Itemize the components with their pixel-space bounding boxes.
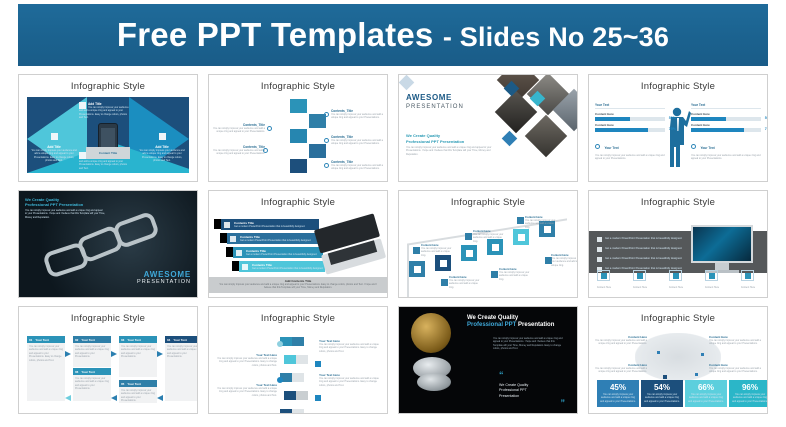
slide-11-body-text: You can simply impress your audience and…	[493, 337, 563, 351]
arrow-3-text: Get a modern PowerPoint Presentation tha…	[246, 253, 317, 256]
step-5-text: You can simply impress your audience and…	[525, 219, 557, 229]
stack-square-2[interactable]	[309, 114, 326, 128]
map-callout-3-text: You can simply impress your audience and…	[709, 339, 761, 346]
slide-4-body: Your Text Content Here 50% Content Here …	[589, 97, 767, 177]
process-col-6-number: 06	[75, 370, 78, 374]
percent-tile-4[interactable]: 96% You can simply impress your audience…	[729, 380, 768, 407]
arrow-left-3	[65, 395, 71, 401]
arrow-left-1	[157, 395, 163, 401]
step-1-text: You can simply impress your audience and…	[421, 247, 453, 257]
arrow-banner-2[interactable]: Contents Title Get a modern PowerPoint P…	[227, 233, 321, 244]
photo-diamond-4	[525, 115, 567, 157]
slide-12-body: Content Here You can simply impress your…	[589, 329, 767, 409]
center-ribbon: Content Title	[86, 147, 130, 159]
sector-item-right[interactable]: Add Title You can simply impress your au…	[139, 127, 185, 163]
process-col-4-number: 04	[167, 338, 170, 342]
bar-left-2-value: 75%	[669, 127, 676, 131]
slide-thumbnail-8[interactable]: Infographic Style Get a modern PowerPoin…	[588, 190, 768, 298]
bar-right-2: 75%	[691, 128, 761, 132]
icon-box-3[interactable]	[669, 270, 682, 281]
percent-tile-3-value: 66%	[685, 383, 727, 392]
bar-right-2-value: 75%	[765, 127, 768, 131]
template-gallery-page: Free PPT Templates - Slides No 25~36 Inf…	[0, 4, 786, 427]
slide-8-title: Infographic Style	[589, 191, 767, 208]
cloud-icon	[159, 133, 166, 140]
check-row-3[interactable]: Get a modern PowerPoint Presentation tha…	[597, 256, 682, 262]
process-col-6-text: You can simply impress your audience and…	[73, 375, 111, 393]
step-3-callout[interactable]: Content Here You can simply impress your…	[473, 229, 505, 243]
process-col-2-number: 02	[75, 338, 78, 342]
world-map-graphic	[635, 333, 720, 381]
process-col-5-body: You can simply impress your audience and…	[119, 387, 157, 403]
arrow-banner-4[interactable]: Contents Title Get a modern PowerPoint P…	[239, 261, 325, 272]
accent-diamond-4	[399, 75, 414, 90]
step-4-text: You can simply impress your audience and…	[499, 271, 531, 281]
connector-ring-right-1	[324, 112, 329, 117]
process-col-1-label: Your Text	[35, 338, 48, 342]
chevron-callout-right-1-text: You can simply impress your audience and…	[319, 343, 381, 353]
slide-1-title: Infographic Style	[19, 75, 197, 92]
stack-square-1[interactable]	[290, 99, 307, 113]
process-col-6-head[interactable]: 06 Your Text	[73, 368, 111, 375]
connector-ring-left-2	[263, 148, 268, 153]
slide-1-body: Add Title You can simply impress your au…	[19, 97, 197, 177]
slide-9-body: You can simply impress your audience and…	[19, 329, 197, 409]
slide-5-body: We Create Quality Professional PPT Prese…	[19, 191, 197, 297]
step-6-text: You can simply impress your audience and…	[551, 257, 578, 267]
bar-group-right: Your Text Content Here 50% Content Here …	[691, 103, 761, 161]
icon-box-3-label: Content Here	[665, 286, 687, 289]
arrow-left-2	[111, 395, 117, 401]
step-2-callout[interactable]: Content Here You can simply impress your…	[449, 275, 481, 289]
percent-tile-2-value: 54%	[641, 383, 683, 392]
step-4-badge	[491, 271, 498, 278]
percent-tile-3[interactable]: 66% You can simply impress your audience…	[685, 380, 727, 407]
chevron-callout-left-1[interactable]: Your Text Here You can simply impress yo…	[215, 353, 277, 367]
process-col-1-body: You can simply impress your audience and…	[27, 343, 65, 401]
slide-6-body: Contents Title Get a modern PowerPoint P…	[209, 213, 387, 293]
check-text-1: Get a modern PowerPoint Presentation tha…	[605, 237, 682, 241]
stack-callout-right-3-text: You can simply impress your audience and…	[331, 164, 383, 171]
bar-right-1-value: 50%	[765, 116, 768, 120]
sector-item-right-text: You can simply impress your audience and…	[139, 149, 185, 163]
icon-box-5-label: Content Here	[737, 286, 759, 289]
quote-close-icon: ”	[561, 399, 566, 408]
sector-diagram: Add Title You can simply impress your au…	[27, 97, 189, 173]
slide-6-title: Infographic Style	[209, 191, 387, 208]
slide-5-heading: AWESOME	[137, 270, 191, 279]
step-2-text: You can simply impress your audience and…	[449, 279, 481, 289]
arrow-banner-1[interactable]: Contents Title Get a modern PowerPoint P…	[221, 219, 319, 230]
gold-coin	[411, 313, 451, 353]
slide-grid: Infographic Style Add Title You can simp…	[18, 74, 768, 414]
bar-left-2-label: Content Here	[595, 123, 665, 127]
chevron-stack	[280, 333, 316, 414]
anchor-icon	[315, 395, 321, 401]
arrow-right-1	[65, 351, 71, 357]
step-3-badge	[465, 233, 472, 240]
step-2-badge	[441, 279, 448, 286]
banner-title: Free PPT Templates - Slides No 25~36	[117, 16, 669, 54]
slide-12-title: Infographic Style	[589, 307, 767, 324]
chevron-callout-left-1-text: You can simply impress your audience and…	[215, 357, 277, 367]
bar-left-footer-label: Your Text	[604, 146, 618, 150]
chevron-callout-right-1[interactable]: Your Text Here You can simply impress yo…	[319, 339, 381, 353]
step-3[interactable]	[461, 245, 477, 261]
process-col-6-body: You can simply impress your audience and…	[73, 375, 111, 401]
stack-callout-right-2-text: You can simply impress your audience and…	[331, 139, 383, 146]
slide-2-title: Infographic Style	[209, 75, 387, 92]
slide-10-title: Infographic Style	[209, 307, 387, 324]
slide-3-subheading: PRESENTATION	[406, 104, 464, 110]
process-col-5-label: Your Text	[127, 382, 140, 386]
slide-6-footer-text: You can simply impress your audience and…	[209, 283, 387, 290]
step-5-badge	[517, 217, 524, 224]
bar-right-1-label: Content Here	[691, 112, 761, 116]
chevron-callout-right-2-text: You can simply impress your audience and…	[319, 377, 381, 387]
process-col-2-label: Your Text	[81, 338, 94, 342]
process-col-5-number: 05	[121, 382, 124, 386]
slide-thumbnail-11[interactable]: We Create Quality Professional PPT Prese…	[398, 306, 578, 414]
stack-callout-right-3[interactable]: Contents_Title You can simply impress yo…	[331, 160, 383, 171]
icon-box-4-label: Content Here	[701, 286, 723, 289]
process-col-3-number: 03	[121, 338, 124, 342]
slide-11-heading-1: We Create Quality	[467, 315, 554, 321]
chevron-callout-left-2-text: You can simply impress your audience and…	[215, 387, 277, 397]
bar-left-1: 50%	[595, 117, 665, 121]
silver-coin-2	[417, 373, 451, 391]
slide-5-text-block: We Create Quality Professional PPT Prese…	[25, 197, 105, 219]
percent-tile-2-text: You can simply impress your audience and…	[641, 392, 683, 403]
connector-ring-right-3	[324, 163, 329, 168]
step-1-badge	[413, 247, 420, 254]
slide-5-subheading: PRESENTATION	[137, 279, 191, 285]
check-text-2: Get a modern PowerPoint Presentation tha…	[605, 247, 682, 251]
step-1[interactable]	[409, 261, 425, 277]
map-callout-4[interactable]: Content Here You can simply impress your…	[709, 363, 761, 374]
stack-square-4[interactable]	[309, 144, 326, 158]
percent-tile-1[interactable]: 45% You can simply impress your audience…	[597, 380, 639, 407]
bar-left-1-value: 50%	[669, 116, 676, 120]
bullet-ring-left	[595, 144, 600, 149]
check-row-2[interactable]: Get a modern PowerPoint Presentation tha…	[597, 246, 682, 252]
step-3-text: You can simply impress your audience and…	[473, 233, 505, 243]
process-col-3-head[interactable]: 03 Your Text	[119, 336, 157, 343]
map-marker-2	[701, 353, 704, 356]
water-drop-icon	[277, 341, 283, 347]
gear-icon	[79, 152, 86, 159]
bar-left-footer-text: You can simply impress your audience and…	[595, 154, 665, 161]
process-col-2-text: You can simply impress your audience and…	[73, 343, 111, 361]
stack-callout-right-2[interactable]: Contents_Title You can simply impress yo…	[331, 135, 383, 146]
map-callout-2[interactable]: Content Here You can simply impress your…	[595, 363, 647, 374]
slide-7-title: Infographic Style	[399, 191, 577, 208]
icon-box-2-label: Content Here	[629, 286, 651, 289]
stack-callout-right-1-text: You can simply impress your audience and…	[331, 113, 383, 120]
slide-11-body: We Create Quality Professional PPT Prese…	[399, 307, 577, 413]
bar-group-right-header: Your Text	[691, 103, 761, 109]
slide-thumbnail-12[interactable]: Infographic Style Content Here You can s…	[588, 306, 768, 414]
process-col-2-body: You can simply impress your audience and…	[73, 343, 111, 367]
slide-thumbnail-9[interactable]: Infographic Style You can simply impress…	[18, 306, 198, 414]
slide-4-title: Infographic Style	[589, 75, 767, 92]
camera-icon	[79, 102, 86, 109]
chevron-callout-left-2[interactable]: Your Text Here You can simply impress yo…	[215, 383, 277, 397]
slide-10-body: Your Text Here You can simply impress yo…	[209, 329, 387, 409]
icon-box-5[interactable]	[741, 270, 754, 281]
power-icon	[277, 377, 283, 383]
step-5-callout[interactable]: Content Here You can simply impress your…	[525, 215, 557, 229]
slide-11-heading-2: Professional PPT Presentation	[467, 322, 554, 328]
stack-callout-right-1[interactable]: Contents_Title You can simply impress yo…	[331, 109, 383, 120]
quote-open-icon: “	[499, 370, 504, 380]
process-col-4-label: Your Text	[173, 338, 186, 342]
icon-box-1[interactable]	[597, 270, 610, 281]
map-marker-3	[663, 375, 667, 379]
process-col-1-number: 01	[29, 338, 32, 342]
percent-tile-3-text: You can simply impress your audience and…	[685, 392, 727, 403]
map-callout-1[interactable]: Content Here You can simply impress your…	[595, 335, 647, 346]
banner-title-sub: - Slides No 25~36	[443, 22, 669, 52]
process-col-3-body: You can simply impress your audience and…	[119, 343, 157, 377]
arrow-1-text: Get a modern PowerPoint Presentation tha…	[234, 225, 305, 228]
slide-thumbnail-2[interactable]: Infographic Style Contents_Title You can…	[208, 74, 388, 182]
quote-line-3: Presentation	[499, 394, 565, 399]
slide-thumbnail-10[interactable]: Infographic Style Your Text Here You can…	[208, 306, 388, 414]
arrow-right-2	[111, 351, 117, 357]
arrow-2-icon	[230, 236, 236, 242]
slide-thumbnail-5[interactable]: We Create Quality Professional PPT Prese…	[18, 190, 198, 298]
step-5[interactable]	[513, 229, 529, 245]
step-1-callout[interactable]: Content Here You can simply impress your…	[421, 243, 453, 257]
slide-8-body: Get a modern PowerPoint Presentation tha…	[589, 213, 767, 293]
bar-left-2: 75%	[595, 128, 665, 132]
check-row-1[interactable]: Get a modern PowerPoint Presentation tha…	[597, 236, 682, 242]
chain-link-3	[112, 211, 160, 250]
center-ribbon-label: Content Title	[86, 147, 130, 155]
map-callout-4-text: You can simply impress your audience and…	[709, 367, 761, 374]
slide-thumbnail-3[interactable]: AWESOME PRESENTATION We Create Quality P…	[398, 74, 578, 182]
connector-ring-left-1	[267, 126, 272, 131]
process-col-5-text: You can simply impress your audience and…	[119, 387, 157, 405]
stack-callout-left-2-text: You can simply impress your audience and…	[213, 149, 265, 156]
bar-right-1: 50%	[691, 117, 761, 121]
sector-item-left[interactable]: Add Title You can simply impress your au…	[31, 127, 77, 163]
step-6-callout[interactable]: Content Here You can simply impress your…	[551, 253, 578, 267]
slide-thumbnail-6[interactable]: Infographic Style Contents Title Get a m…	[208, 190, 388, 298]
slide-3-tagline-2: Professional PPT Presentation	[406, 139, 464, 144]
sector-item-left-text: You can simply impress your audience and…	[31, 149, 77, 163]
page-banner: Free PPT Templates - Slides No 25~36	[18, 4, 768, 66]
slide-5-heading-block: AWESOME PRESENTATION	[137, 270, 191, 285]
slide-9-title: Infographic Style	[19, 307, 197, 324]
process-col-3-label: Your Text	[127, 338, 140, 342]
process-col-1-head[interactable]: 01 Your Text	[27, 336, 65, 343]
connector-ring-right-2	[324, 138, 329, 143]
stack-square-5[interactable]	[290, 159, 307, 173]
slide-7-body: Content Here You can simply impress your…	[399, 213, 577, 293]
slide-3-body: AWESOME PRESENTATION We Create Quality P…	[399, 75, 577, 181]
slide-5-body-text: You can simply impress your audience and…	[25, 209, 105, 219]
step-4-callout[interactable]: Content Here You can simply impress your…	[499, 267, 531, 281]
slide-thumbnail-7[interactable]: Infographic Style Content Here You can s…	[398, 190, 578, 298]
bar-right-footer-text: You can simply impress your audience and…	[691, 154, 761, 161]
map-callout-1-text: You can simply impress your audience and…	[595, 339, 647, 346]
map-marker-4	[695, 373, 698, 376]
businessman-silhouette	[665, 105, 691, 167]
lock-icon	[315, 361, 321, 367]
arrow-4-icon	[242, 264, 248, 270]
stack-callout-left-1[interactable]: Contents_Title You can simply impress yo…	[213, 123, 265, 134]
banner-title-main: Free PPT Templates	[117, 16, 434, 53]
bar-group-left-header: Your Text	[595, 103, 665, 109]
process-col-4-head[interactable]: 04 Your Text	[165, 336, 198, 343]
map-marker-1	[657, 351, 660, 354]
bullet-ring-right	[691, 144, 696, 149]
bar-group-left: Your Text Content Here 50% Content Here …	[595, 103, 665, 161]
percent-tile-2[interactable]: 54% You can simply impress your audience…	[641, 380, 683, 407]
percent-tile-1-value: 45%	[597, 383, 639, 392]
process-col-4-text: You can simply impress your audience and…	[165, 343, 198, 361]
sector-item-top[interactable]: Add Title You can simply impress your au…	[79, 102, 131, 120]
process-col-2-head[interactable]: 02 Your Text	[73, 336, 111, 343]
slide-11-quote-block: “ We Create Quality Professional PPT Pre…	[499, 365, 565, 408]
slide-3-body-text: You can simply impress your audience and…	[406, 146, 492, 156]
check-icon-1	[597, 237, 602, 242]
slide-6-footer: Add Contents Title You can simply impres…	[209, 277, 387, 293]
monitor-graphic	[691, 225, 753, 273]
icon-box-4[interactable]	[705, 270, 718, 281]
slide-thumbnail-1[interactable]: Infographic Style Add Title You can simp…	[18, 74, 198, 182]
stack-square-3[interactable]	[290, 129, 307, 143]
percent-tile-1-text: You can simply impress your audience and…	[597, 392, 639, 403]
slide-11-heading-block: We Create Quality Professional PPT Prese…	[467, 315, 554, 328]
map-callout-2-text: You can simply impress your audience and…	[595, 367, 647, 374]
arrow-4-text: Get a modern PowerPoint Presentation tha…	[252, 267, 323, 270]
process-col-6-label: Your Text	[81, 370, 94, 374]
slide-2-body: Contents_Title You can simply impress yo…	[209, 97, 387, 177]
slide-thumbnail-4[interactable]: Infographic Style Your Text Content Here…	[588, 74, 768, 182]
stack-callout-left-1-text: You can simply impress your audience and…	[213, 127, 265, 134]
process-col-1-text: You can simply impress your audience and…	[27, 343, 65, 364]
chevron-callout-right-2[interactable]: Your Text Here You can simply impress yo…	[319, 373, 381, 387]
arrow-3-icon	[236, 250, 242, 256]
laptop-graphic	[314, 213, 386, 274]
icon-box-1-label: Content Here	[593, 286, 615, 289]
check-icon-2	[597, 247, 602, 252]
check-text-3: Get a modern PowerPoint Presentation tha…	[605, 257, 682, 261]
sector-item-top-text: You can simply impress your audience and…	[79, 106, 131, 120]
check-icon-3	[597, 257, 602, 262]
bar-right-footer-label: Your Text	[700, 146, 714, 150]
process-col-4-body: You can simply impress your audience and…	[165, 343, 198, 401]
slide-3-heading: AWESOME	[406, 93, 452, 102]
arrow-1-icon	[224, 222, 230, 228]
slide-5-tagline-2: Professional PPT Presentation	[25, 202, 105, 207]
percent-tile-4-value: 96%	[729, 383, 768, 392]
process-col-5-head[interactable]: 05 Your Text	[119, 380, 157, 387]
process-col-3-text: You can simply impress your audience and…	[119, 343, 157, 361]
arrow-2-text: Get a modern PowerPoint Presentation tha…	[240, 239, 311, 242]
bar-left-1-label: Content Here	[595, 112, 665, 116]
stack-callout-left-2[interactable]: Contents_Title You can simply impress yo…	[213, 145, 265, 156]
icon-box-2[interactable]	[633, 270, 646, 281]
slide-3-tagline-1: We Create Quality	[406, 133, 440, 138]
monitor-icon	[51, 133, 58, 140]
stacked-squares	[283, 99, 313, 174]
arrow-banner-3[interactable]: Contents Title Get a modern PowerPoint P…	[233, 247, 323, 258]
map-callout-3[interactable]: Content Here You can simply impress your…	[709, 335, 761, 346]
percent-tile-4-text: You can simply impress your audience and…	[729, 392, 768, 403]
bar-right-2-label: Content Here	[691, 123, 761, 127]
arrow-right-3	[157, 351, 163, 357]
